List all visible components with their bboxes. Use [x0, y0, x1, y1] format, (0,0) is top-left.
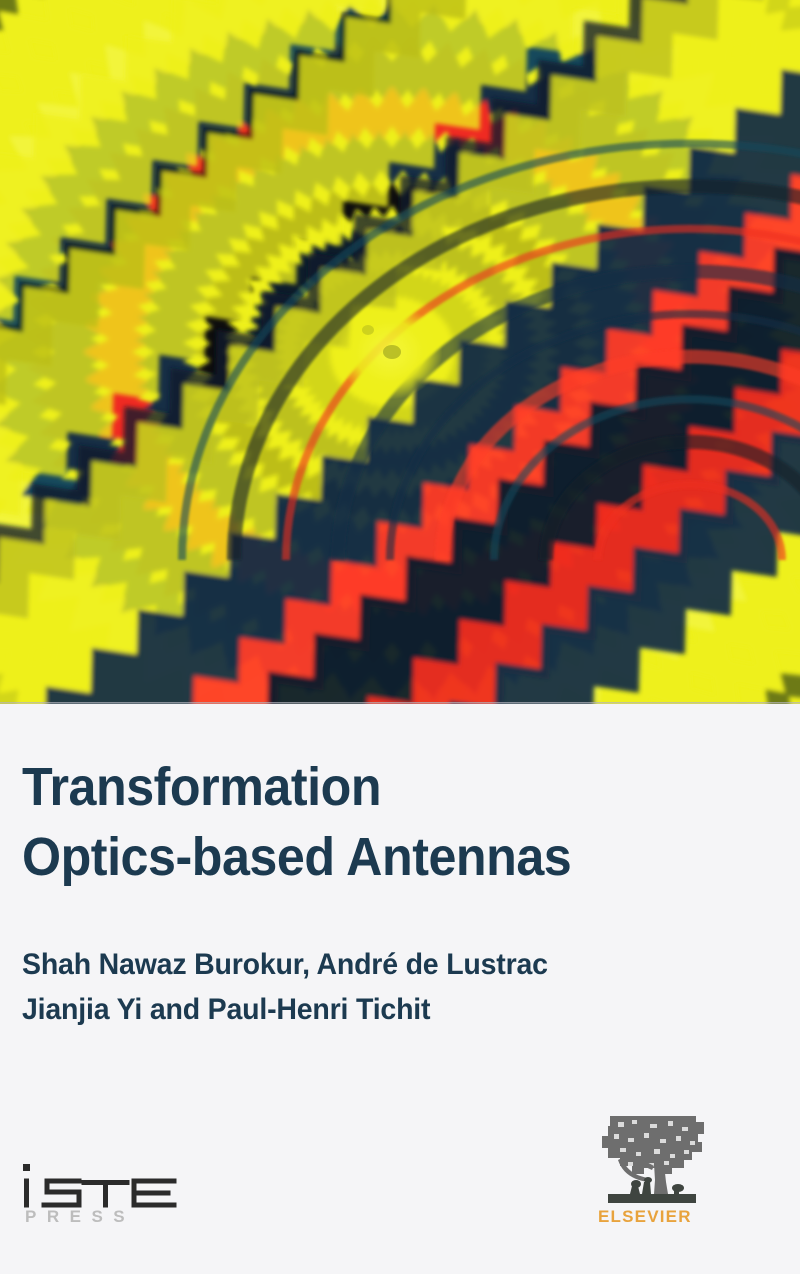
cover-text-panel: Transformation Optics-based Antennas Sha… — [0, 704, 800, 1274]
iste-press-sub-text: PRESS — [25, 1207, 135, 1226]
elsevier-logo: ELSEVIER — [592, 1108, 714, 1233]
elsevier-wordmark: ELSEVIER — [598, 1207, 692, 1226]
iste-press-sub-wordmark: PRESS — [25, 1207, 135, 1226]
wave-simulation-graphic — [0, 0, 800, 704]
author-line-2: Jianjia Yi and Paul-Henri Tichit — [22, 987, 744, 1032]
author-list: Shah Nawaz Burokur, André de Lustrac Jia… — [22, 942, 782, 1032]
author-line-1: Shah Nawaz Burokur, André de Lustrac — [22, 942, 744, 987]
iste-press-logo-mark: PRESS — [22, 1160, 187, 1230]
elsevier-tree-emblem: ELSEVIER — [592, 1108, 714, 1233]
iste-press-logo: PRESS — [22, 1160, 187, 1230]
page-title: Transformation Optics-based Antennas — [22, 752, 762, 892]
book-cover: Transformation Optics-based Antennas Sha… — [0, 0, 800, 1274]
title-line-2: Optics-based Antennas — [22, 822, 710, 892]
title-line-1: Transformation — [22, 752, 710, 822]
cover-artwork — [0, 0, 800, 704]
